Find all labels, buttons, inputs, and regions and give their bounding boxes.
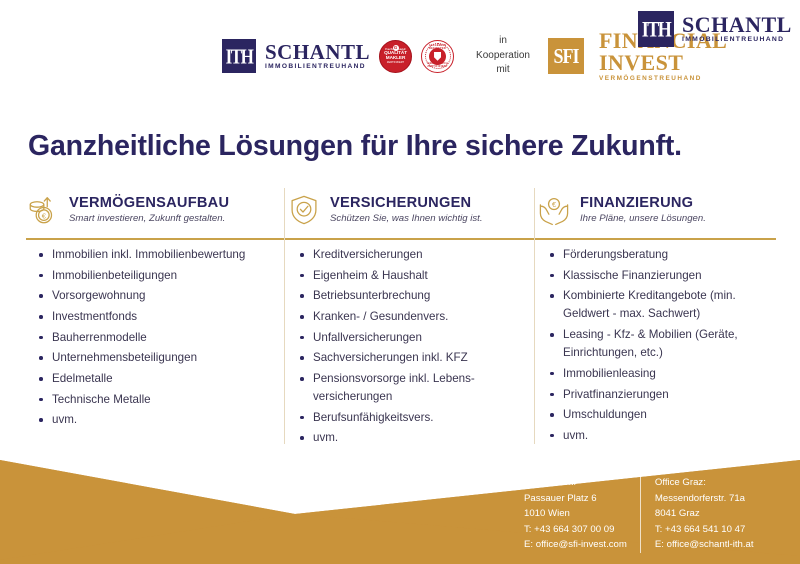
list-item: Kreditversicherungen	[299, 246, 525, 264]
hands-holding-coin-icon: €	[537, 193, 571, 227]
schantl-ith-mark-overlay-icon: ITH	[638, 11, 674, 47]
list-item: Technische Metalle	[38, 391, 279, 409]
seal-badge-dot-icon	[393, 45, 399, 51]
schantl-tagline-overlay-text: IMMOBILIENTREUHAND	[682, 37, 792, 44]
seal-shield-core-icon	[429, 48, 446, 65]
column-vermoegensaufbau: € VERMÖGENSAUFBAU Smart investieren, Zuk…	[26, 188, 279, 450]
sfi-mark-icon: SFI	[548, 38, 584, 74]
coins-euro-growth-icon: €	[26, 193, 60, 227]
list-item: Investmentfonds	[38, 308, 279, 326]
office-street: Messendorferstr. 71a	[655, 491, 754, 507]
schantl-ith-mark-icon: ITH	[222, 39, 256, 73]
list-item: Edelmetalle	[38, 370, 279, 388]
cooperation-line-3: mit	[496, 64, 509, 75]
services-columns: € VERMÖGENSAUFBAU Smart investieren, Zuk…	[26, 188, 776, 450]
list-item: Leasing - Kfz- & Mobilien (Geräte, Einri…	[549, 326, 776, 362]
column-subtitle: Schützen Sie, was Ihnen wichtig ist.	[330, 214, 483, 225]
cooperation-line-1: in	[499, 35, 507, 46]
schantl-logo-overlay: ITH SCHANTL IMMOBILIENTREUHAND	[638, 11, 792, 47]
office-phone[interactable]: T: +43 664 541 10 47	[655, 522, 754, 538]
schantl-name-text: SCHANTL	[265, 42, 370, 63]
list-item: Vorsorgewohnung	[38, 287, 279, 305]
list-item: Sachversicherungen inkl. KFZ	[299, 349, 525, 367]
office-city: 1010 Wien	[524, 506, 627, 522]
column-versicherungen: VERSICHERUNGEN Schützen Sie, was Ihnen w…	[279, 188, 525, 450]
service-list: Förderungsberatung Klassische Finanzieru…	[537, 246, 776, 445]
page-title: Ganzheitliche Lösungen für Ihre sichere …	[28, 130, 772, 163]
seal-sub-text: ZERTIFIZIERT	[384, 62, 407, 65]
office-street: Passauer Platz 6	[524, 491, 627, 507]
schantl-wordmark-overlay: SCHANTL IMMOBILIENTREUHAND	[682, 14, 792, 44]
svg-text:€: €	[42, 211, 47, 220]
list-item: Pensionsvorsorge inkl. Lebens-versicheru…	[299, 370, 525, 406]
office-name: Office Graz:	[655, 475, 754, 491]
ith-monogram-text: ITH	[226, 46, 253, 67]
column-title: VERMÖGENSAUFBAU	[69, 195, 229, 211]
column-header: € FINANZIERUNG Ihre Pläne, unsere Lösung…	[537, 188, 776, 232]
column-title-group: FINANZIERUNG Ihre Pläne, unsere Lösungen…	[580, 195, 706, 225]
list-item: Klassische Finanzierungen	[549, 267, 776, 285]
list-item: Berufsunfähigkeitsvers.	[299, 409, 525, 427]
footer: Office Wien: Passauer Platz 6 1010 Wien …	[0, 452, 800, 564]
list-item: Betriebsunterbrechung	[299, 287, 525, 305]
list-item: Eigenheim & Haushalt	[299, 267, 525, 285]
schantl-wordmark: SCHANTL IMMOBILIENTREUHAND	[265, 42, 370, 71]
list-item: Immobilienbeteiligungen	[38, 267, 279, 285]
svg-text:€: €	[552, 200, 556, 209]
financial-invest-tagline-text: VERMÖGENSTREUHAND	[599, 76, 800, 82]
list-item: Umschuldungen	[549, 406, 776, 424]
column-title-group: VERSICHERUNGEN Schützen Sie, was Ihnen w…	[330, 195, 483, 225]
list-item: Bauherrenmodelle	[38, 329, 279, 347]
ith-monogram-overlay-text: ITH	[642, 18, 671, 41]
column-finanzierung: € FINANZIERUNG Ihre Pläne, unsere Lösung…	[525, 188, 776, 450]
gerichtlich-zertifiziert-seal-icon: ALLGEMEIN BEEIDETER GERICHTLICH ZERTIFIZ…	[421, 40, 454, 73]
list-item: Immobilienleasing	[549, 365, 776, 383]
schantl-tagline-text: IMMOBILIENTREUHAND	[265, 64, 370, 71]
office-name: Office Wien:	[524, 475, 627, 491]
column-subtitle: Smart investieren, Zukunft gestalten.	[69, 214, 229, 225]
office-phone[interactable]: T: +43 664 307 00 09	[524, 522, 627, 538]
cooperation-label: in Kooperation mit	[476, 34, 530, 78]
header-logo-bar: ITH SCHANTL IMMOBILIENTREUHAND Fachverba…	[0, 0, 800, 108]
schantl-name-overlay-text: SCHANTL	[682, 14, 792, 36]
qualitaetsmakler-seal-icon: Fachverband QUALITÄT MAKLER ZERTIFIZIERT	[379, 40, 412, 73]
column-title: FINANZIERUNG	[580, 195, 706, 211]
office-city: 8041 Graz	[655, 506, 754, 522]
list-item: uvm.	[38, 411, 279, 429]
list-item: Kranken- / Gesundenvers.	[299, 308, 525, 326]
list-item: Unternehmensbeteiligungen	[38, 349, 279, 367]
list-item: Privatfinanzierungen	[549, 386, 776, 404]
list-item: Förderungsberatung	[549, 246, 776, 264]
list-item: uvm.	[299, 429, 525, 447]
column-header: € VERMÖGENSAUFBAU Smart investieren, Zuk…	[26, 188, 279, 232]
column-title: VERSICHERUNGEN	[330, 195, 483, 211]
column-subtitle: Ihre Pläne, unsere Lösungen.	[580, 214, 706, 225]
column-title-group: VERMÖGENSAUFBAU Smart investieren, Zukun…	[69, 195, 229, 225]
cooperation-line-2: Kooperation	[476, 50, 530, 61]
service-list: Immobilien inkl. Immobilienbewertung Imm…	[26, 246, 279, 429]
shield-check-icon	[287, 193, 321, 227]
office-graz-contact: Office Graz: Messendorferstr. 71a 8041 G…	[640, 475, 754, 553]
sfi-monogram-text: SFI	[553, 46, 578, 67]
list-item: Kombinierte Kreditangebote (min. Geldwer…	[549, 287, 776, 323]
office-email[interactable]: E: office@sfi-invest.com	[524, 537, 627, 553]
footer-contact-block: Office Wien: Passauer Platz 6 1010 Wien …	[524, 475, 754, 553]
service-list: Kreditversicherungen Eigenheim & Haushal…	[287, 246, 525, 448]
list-item: Unfallversicherungen	[299, 329, 525, 347]
office-wien-contact: Office Wien: Passauer Platz 6 1010 Wien …	[524, 475, 640, 553]
column-header: VERSICHERUNGEN Schützen Sie, was Ihnen w…	[287, 188, 525, 232]
office-email[interactable]: E: office@schantl-ith.at	[655, 537, 754, 553]
list-item: Immobilien inkl. Immobilienbewertung	[38, 246, 279, 264]
list-item: uvm.	[549, 427, 776, 445]
